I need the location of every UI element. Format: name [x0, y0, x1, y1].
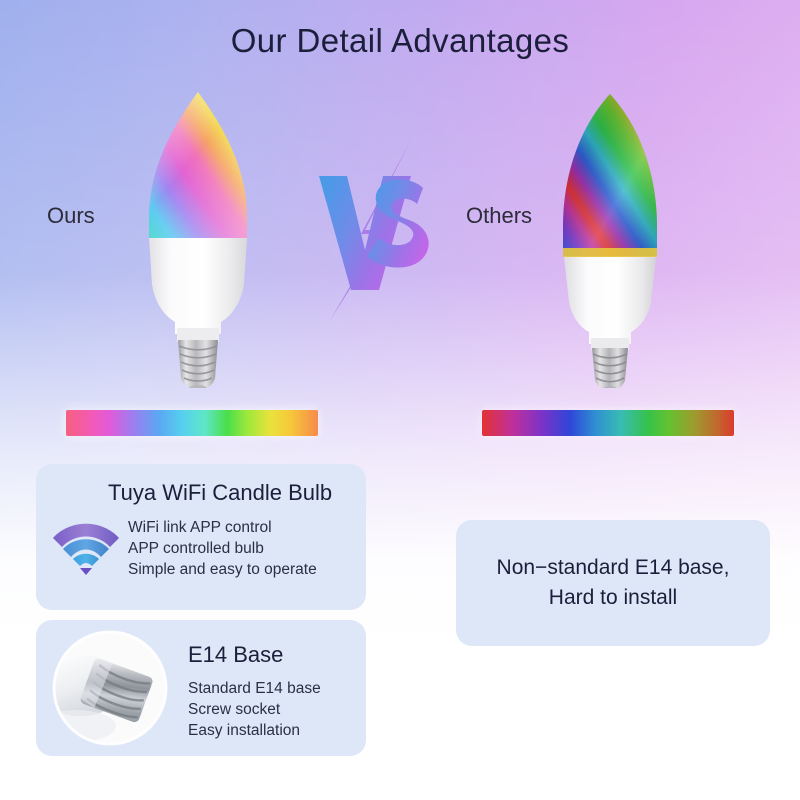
label-ours: Ours [47, 203, 95, 229]
card-e14-line-1: Standard E14 base [188, 678, 321, 699]
color-gradient-bar-ours [66, 410, 318, 436]
card-drawback-text: Non−standard E14 base, Hard to install [497, 553, 730, 613]
card-wifi-line-3: Simple and easy to operate [128, 559, 317, 580]
card-wifi-line-1: WiFi link APP control [128, 517, 317, 538]
card-drawback: Non−standard E14 base, Hard to install [456, 520, 770, 646]
card-e14-line-2: Screw socket [188, 699, 321, 720]
card-wifi-line-2: APP controlled bulb [128, 538, 317, 559]
card-e14-title: E14 Base [188, 642, 283, 668]
candle-bulb-others [545, 88, 675, 388]
candle-bulb-ours [133, 88, 263, 388]
wifi-icon [50, 516, 122, 578]
card-drawback-line-2: Hard to install [497, 583, 730, 613]
versus-icon [303, 138, 453, 323]
e14-screw-base-photo [52, 630, 168, 746]
card-wifi-lines: WiFi link APP control APP controlled bul… [128, 517, 317, 580]
card-wifi-title: Tuya WiFi Candle Bulb [108, 480, 332, 506]
card-drawback-line-1: Non−standard E14 base, [497, 553, 730, 583]
label-others: Others [466, 203, 532, 229]
card-wifi-feature: Tuya WiFi Candle Bulb WiFi link APP cont… [36, 464, 366, 610]
card-e14-feature: E14 Base Standard E14 base Screw socket … [36, 620, 366, 756]
page-title: Our Detail Advantages [0, 22, 800, 60]
color-gradient-bar-others [482, 410, 734, 436]
card-e14-line-3: Easy installation [188, 720, 321, 741]
card-e14-lines: Standard E14 base Screw socket Easy inst… [188, 678, 321, 741]
